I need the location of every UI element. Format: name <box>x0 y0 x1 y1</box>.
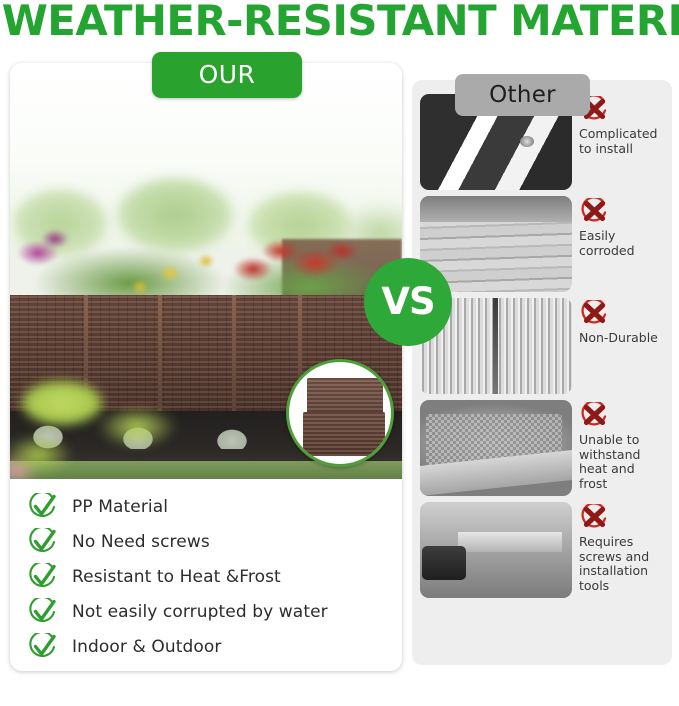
other-badge: Other <box>455 74 590 116</box>
con-item: Easily corroded <box>420 196 664 292</box>
con-item: Non-Durable <box>420 298 664 394</box>
vs-badge: VS <box>364 258 452 346</box>
check-icon <box>28 598 58 626</box>
con-item: Requires screws and installation tools <box>420 502 664 598</box>
our-badge: OUR <box>152 52 302 98</box>
check-icon <box>28 633 58 661</box>
our-feature-list: PP Material No Need screws <box>10 479 402 671</box>
planter-seam <box>232 295 236 413</box>
x-mark-icon <box>579 504 609 532</box>
feature-item: Indoor & Outdoor <box>28 629 402 664</box>
our-product-photo <box>10 63 402 479</box>
product-detail-inset <box>286 359 394 467</box>
feature-label: PP Material <box>72 497 168 517</box>
check-icon <box>28 563 58 591</box>
other-product-thumbnail <box>420 400 572 496</box>
inset-panel-front <box>303 412 385 456</box>
x-mark-icon <box>579 198 609 226</box>
our-product-panel: PP Material No Need screws <box>10 63 402 671</box>
con-label: Easily corroded <box>579 229 664 258</box>
photo-foreground-leaf <box>10 363 227 479</box>
con-content: Requires screws and installation tools <box>572 502 664 593</box>
con-content: Easily corroded <box>572 196 664 258</box>
feature-label: No Need screws <box>72 532 210 552</box>
feature-item: No Need screws <box>28 524 402 559</box>
feature-item: Not easily corrupted by water <box>28 594 402 629</box>
feature-label: Resistant to Heat &Frost <box>72 567 281 587</box>
other-product-thumbnail <box>420 502 572 598</box>
x-mark-icon <box>579 300 609 328</box>
con-item: Unable to withstand heat and frost <box>420 400 664 496</box>
feature-label: Indoor & Outdoor <box>72 637 221 657</box>
page-title: WEATHER-RESISTANT MATERIAL <box>2 0 678 44</box>
other-products-panel: Complicated to install Easily corroded <box>412 80 672 665</box>
con-label: Complicated to install <box>579 127 664 156</box>
feature-label: Not easily corrupted by water <box>72 602 328 622</box>
check-icon <box>28 493 58 521</box>
con-content: Unable to withstand heat and frost <box>572 400 664 491</box>
feature-item: PP Material <box>28 489 402 524</box>
con-label: Non-Durable <box>579 331 664 346</box>
check-icon <box>28 528 58 556</box>
con-label: Requires screws and installation tools <box>579 535 664 593</box>
inset-panel-back <box>307 378 383 414</box>
feature-item: Resistant to Heat &Frost <box>28 559 402 594</box>
comparison-infographic: WEATHER-RESISTANT MATERIAL <box>0 0 679 706</box>
x-mark-icon <box>579 402 609 430</box>
con-content: Non-Durable <box>572 298 664 346</box>
con-label: Unable to withstand heat and frost <box>579 433 664 491</box>
